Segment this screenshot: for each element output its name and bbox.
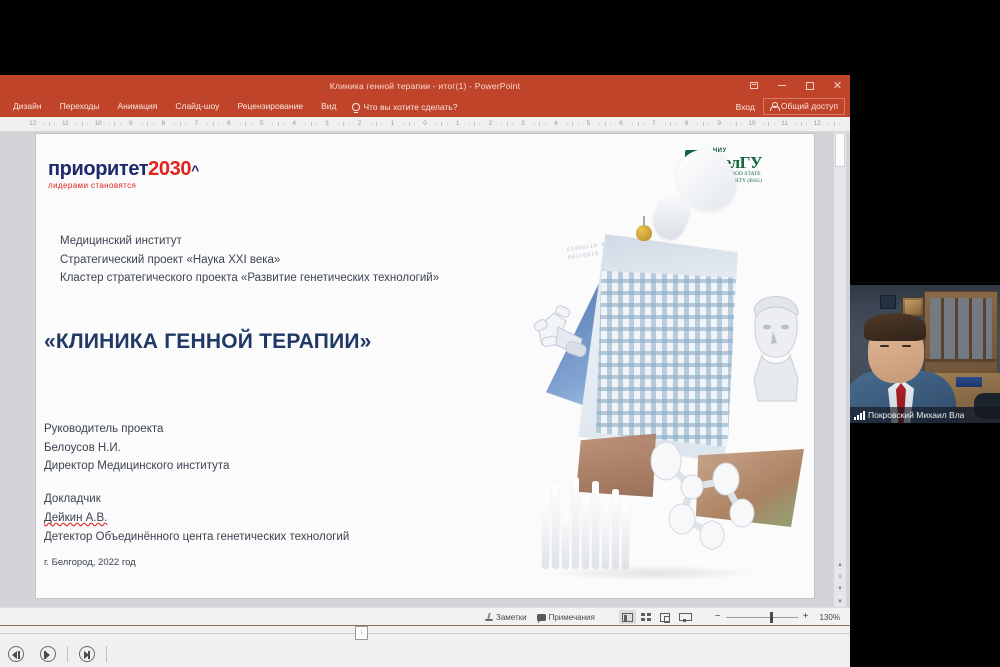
ruler-tick: [371, 124, 372, 125]
reading-view-button[interactable]: [657, 610, 674, 624]
ruler-mark: 5: [260, 120, 264, 127]
tab-review[interactable]: Рецензирование: [228, 99, 312, 114]
slide-show-icon: [679, 613, 690, 622]
powerpoint-window: Клиника генной терапии - итог(1) - Power…: [0, 75, 850, 625]
subheading-line-3: Кластер стратегического проекта «Развити…: [60, 269, 439, 288]
ruler-tick: [801, 122, 802, 126]
ruler-mark: 4: [292, 120, 296, 127]
collage-shadow: [548, 565, 758, 581]
tab-design[interactable]: Дизайн: [4, 99, 51, 114]
ruler-tick: [49, 122, 50, 126]
ruler-tick: [828, 124, 829, 125]
ruler-tick: [610, 124, 611, 125]
ruler-tick: [44, 124, 45, 125]
player-divider: [67, 646, 68, 662]
lightbulb-icon: [352, 103, 360, 111]
ruler-tick: [708, 124, 709, 125]
play-pause-button[interactable]: [71, 642, 103, 666]
tab-slideshow[interactable]: Слайд-шоу: [166, 99, 228, 114]
ruler-tick: [207, 124, 208, 125]
wall-picture-dark: [880, 295, 896, 309]
ruler-mark: 6: [227, 120, 231, 127]
media-player-bar: ⁞: [0, 625, 850, 667]
tell-me-label: Что вы хотите сделать?: [363, 102, 457, 112]
speaker-name: Дейкин А.В.: [44, 509, 349, 528]
view-buttons-group: [619, 610, 693, 624]
blue-folder-box: [956, 377, 982, 387]
priority-logo-year: 2030: [148, 158, 191, 180]
subheading-line-2: Стратегический проект «Наука XXI века»: [60, 251, 439, 270]
ruler-tick: [539, 122, 540, 126]
reading-view-icon: [660, 613, 670, 622]
ruler-mark: 9: [717, 120, 721, 127]
speaker-label: Докладчик: [44, 490, 349, 509]
previous-button[interactable]: [0, 642, 32, 666]
normal-view-button[interactable]: [619, 610, 636, 624]
slide-sorter-view-button[interactable]: [638, 610, 655, 624]
ruler-tick: [474, 122, 475, 126]
subheading-line-1: Медицинский институт: [60, 232, 439, 251]
ruler-mark: 5: [587, 120, 591, 127]
ruler-mark: 10: [94, 120, 101, 127]
ruler-tick: [545, 124, 546, 125]
share-button[interactable]: Общий доступ: [763, 98, 845, 115]
ruler-tick: [796, 124, 797, 125]
priority-logo-tagline: лидерами становятся: [48, 181, 199, 190]
ruler-ticks: 1211109876543210123456789101112: [0, 117, 850, 131]
progress-row[interactable]: ⁞: [0, 626, 850, 640]
play-pause-icon: [79, 646, 95, 662]
ruler-mark: 0: [423, 120, 427, 127]
next-button[interactable]: [32, 642, 64, 666]
status-bar: Заметки Примечания − + 130%: [0, 607, 850, 625]
ruler-tick: [774, 124, 775, 125]
close-icon[interactable]: ✕: [829, 78, 846, 93]
ruler-tick: [447, 124, 448, 125]
ribbon-right-actions: Вход Общий доступ: [736, 96, 845, 117]
ruler-tick: [414, 124, 415, 125]
ruler-tick: [376, 122, 377, 126]
ruler-tick: [381, 124, 382, 125]
ruler-mark: 9: [129, 120, 133, 127]
priority-2030-logo: приоритет2030^ лидерами становятся: [48, 159, 199, 190]
ruler-tick: [670, 122, 671, 126]
comments-label: Примечания: [549, 613, 595, 622]
slide-workspace: приоритет2030^ лидерами становятся НИУ Б…: [0, 132, 850, 607]
maximize-icon[interactable]: [801, 78, 818, 93]
ruler-tick: [87, 124, 88, 125]
comment-icon: [537, 614, 546, 621]
molecule-model-icon: [636, 425, 772, 557]
ruler-tick: [697, 124, 698, 125]
tab-transitions[interactable]: Переходы: [51, 99, 109, 114]
ruler-tick: [578, 124, 579, 125]
building-windows: [596, 267, 736, 447]
ruler-tick: [142, 124, 143, 125]
ruler-mark: 7: [652, 120, 656, 127]
ruler-mark: 1: [456, 120, 460, 127]
ruler-tick: [147, 122, 148, 126]
ruler-mark: 7: [194, 120, 198, 127]
ruler-tick: [245, 122, 246, 126]
scrollbar-thumb[interactable]: [835, 133, 845, 167]
slide-credits: Руководитель проекта Белоусов Н.И. Дирек…: [44, 420, 349, 546]
notes-label: Заметки: [496, 613, 527, 622]
zoom-out-button[interactable]: −: [715, 612, 721, 622]
slide-subheading: Медицинский институт Стратегический прое…: [60, 232, 439, 288]
slide-canvas[interactable]: приоритет2030^ лидерами становятся НИУ Б…: [36, 134, 814, 598]
ruler-mark: 1: [390, 120, 394, 127]
status-bar-center: Заметки Примечания − + 130%: [485, 608, 850, 625]
ruler-mark: 12: [814, 120, 821, 127]
ruler-tick: [213, 122, 214, 126]
window-controls: ✕: [745, 75, 846, 96]
ruler-tick: [185, 124, 186, 125]
prev-slide-icon[interactable]: ▲: [836, 561, 844, 569]
ruler-tick: [338, 124, 339, 125]
slide-title: «КЛИНИКА ГЕННОЙ ТЕРАПИИ»: [44, 330, 372, 354]
ruler-mark: 6: [619, 120, 623, 127]
title-bar[interactable]: Клиника генной терапии - итог(1) - Power…: [0, 75, 850, 96]
ruler-tick: [469, 124, 470, 125]
ruler-mark: 4: [554, 120, 558, 127]
ruler-tick: [441, 122, 442, 126]
ruler-tick: [272, 124, 273, 125]
next-slide-icon[interactable]: ▼: [836, 585, 844, 593]
ruler-mark: 11: [781, 120, 788, 127]
ruler-tick: [605, 122, 606, 126]
ruler-mark: 8: [685, 120, 689, 127]
ruler-tick: [643, 124, 644, 125]
left-eye: [880, 345, 889, 347]
video-participant-tile[interactable]: Покровский Михаил Вла: [850, 285, 1000, 423]
ruler-tick: [305, 124, 306, 125]
ruler-tick: [76, 124, 77, 125]
ruler-tick: [349, 124, 350, 125]
ruler-tick: [501, 124, 502, 125]
vertical-scrollbar[interactable]: ▲ ▲ ≡ ▼ ▼: [834, 132, 846, 607]
player-divider-2: [106, 646, 107, 662]
robot-hand-icon: [532, 297, 594, 369]
progress-track[interactable]: [0, 633, 850, 634]
window-title: Клиника генной терапии - итог(1) - Power…: [330, 81, 520, 91]
ruler-tick: [512, 124, 513, 125]
ruler-tick: [676, 124, 677, 125]
screen-root: Клиника генной терапии - итог(1) - Power…: [0, 0, 1000, 667]
ruler-tick: [82, 122, 83, 126]
skip-previous-icon: [8, 646, 24, 662]
tell-me-search[interactable]: Что вы хотите сделать?: [352, 102, 457, 112]
zoom-slider[interactable]: [726, 617, 798, 618]
test-tubes-icon: [540, 469, 636, 569]
ruler-tick: [572, 122, 573, 126]
notes-button[interactable]: Заметки: [485, 613, 527, 622]
share-label: Общий доступ: [781, 101, 838, 111]
ruler-tick: [567, 124, 568, 125]
signal-strength-icon: [854, 411, 864, 420]
sign-in-link[interactable]: Вход: [736, 102, 755, 112]
zoom-control: − + 130%: [715, 612, 850, 622]
ruler-tick: [638, 122, 639, 126]
ruler-mark: 2: [358, 120, 362, 127]
ruler-mark: 3: [521, 120, 525, 127]
ruler-tick: [316, 124, 317, 125]
minimize-icon[interactable]: [773, 78, 790, 93]
ruler-tick: [54, 124, 55, 125]
ruler-mark: 11: [62, 120, 69, 127]
credit-name: Белоусов Н.И.: [44, 439, 349, 458]
ruler-tick: [736, 122, 737, 126]
ruler-tick: [834, 122, 835, 126]
golden-dome-icon: [636, 225, 652, 241]
priority-logo-word: приоритет: [48, 158, 148, 180]
right-eye: [902, 345, 911, 347]
ruler-tick: [409, 122, 410, 126]
ruler-tick: [218, 124, 219, 125]
player-controls: [0, 642, 110, 666]
ruler-tick: [665, 124, 666, 125]
ruler-tick: [741, 124, 742, 125]
select-browse-object-icon[interactable]: ≡: [836, 573, 844, 581]
horizontal-ruler[interactable]: 1211109876543210123456789101112: [0, 117, 850, 132]
tab-view[interactable]: Вид: [312, 99, 345, 114]
collage-image: 01000110 01001010 00110010 01100110: [528, 139, 810, 587]
credit-role: Руководитель проекта: [44, 420, 349, 439]
ruler-tick: [479, 124, 480, 125]
ruler-tick: [174, 124, 175, 125]
ruler-tick: [507, 122, 508, 126]
participant-hair: [864, 313, 926, 341]
ruler-tick: [839, 124, 840, 125]
slide-sorter-icon: [641, 613, 651, 621]
normal-view-icon: [622, 613, 633, 622]
ruler-tick: [763, 124, 764, 125]
ruler-tick: [436, 124, 437, 125]
progress-scrubber-handle[interactable]: ⁞: [355, 626, 368, 640]
ruler-mark: 10: [748, 120, 755, 127]
ruler-mark: 12: [29, 120, 36, 127]
participant-name-bar: Покровский Михаил Вла: [850, 407, 1000, 423]
ruler-tick: [343, 122, 344, 126]
david-bust-sculpture: [742, 289, 808, 409]
ruler-tick: [180, 122, 181, 126]
zoom-percent-label[interactable]: 130%: [819, 613, 839, 622]
scroll-down-icon[interactable]: ▼: [834, 596, 846, 607]
ruler-tick: [109, 124, 110, 125]
video-background: [850, 285, 1000, 423]
ruler-tick: [806, 124, 807, 125]
ruler-tick: [599, 124, 600, 125]
comments-button[interactable]: Примечания: [537, 613, 595, 622]
ruler-tick: [153, 124, 154, 125]
speaker-title: Детектор Объединённого цента генетически…: [44, 528, 349, 547]
ruler-tick: [283, 124, 284, 125]
ruler-tick: [240, 124, 241, 125]
ruler-mark: 2: [489, 120, 493, 127]
ruler-tick: [278, 122, 279, 126]
ruler-tick: [768, 122, 769, 126]
notes-icon: [485, 613, 493, 621]
zoom-in-button[interactable]: +: [803, 612, 809, 622]
ribbon-tab-strip: Дизайн Переходы Анимация Слайд-шоу Рецен…: [0, 96, 850, 117]
slide-city-year: г. Белгород, 2022 год: [44, 557, 136, 568]
ruler-tick: [311, 122, 312, 126]
ruler-tick: [632, 124, 633, 125]
ruler-tick: [703, 122, 704, 126]
ribbon-display-options-icon[interactable]: [745, 78, 762, 93]
ruler-mark: 3: [325, 120, 329, 127]
priority-logo-caret: ^: [191, 162, 199, 178]
participant-name: Покровский Михаил Вла: [868, 410, 964, 420]
slide-show-view-button[interactable]: [676, 610, 693, 624]
ruler-tick: [120, 124, 121, 125]
ruler-tick: [251, 124, 252, 125]
ruler-tick: [534, 124, 535, 125]
person-share-icon: [770, 102, 778, 111]
credit-position: Директор Медицинского института: [44, 457, 349, 476]
ruler-tick: [730, 124, 731, 125]
ruler-tick: [403, 124, 404, 125]
ruler-tick: [114, 122, 115, 126]
tab-animations[interactable]: Анимация: [108, 99, 166, 114]
skip-next-icon: [40, 646, 56, 662]
zoom-slider-thumb[interactable]: [770, 612, 773, 623]
ruler-mark: 8: [162, 120, 166, 127]
